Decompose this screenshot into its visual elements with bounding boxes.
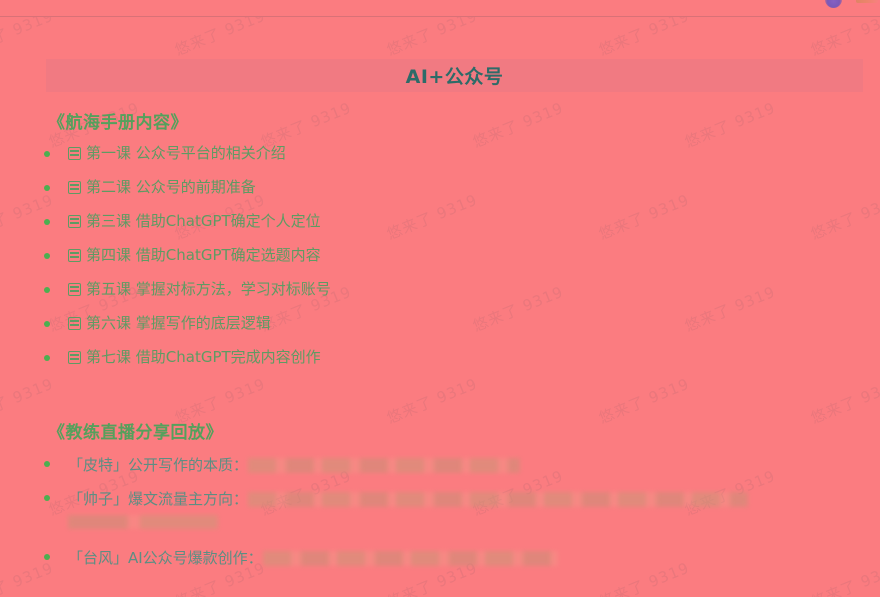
redacted-link[interactable]	[248, 458, 520, 473]
lesson-item-label: 第六课 掌握写作的底层逻辑	[86, 314, 271, 333]
bullet-icon	[44, 287, 50, 293]
bullet-icon	[44, 355, 50, 361]
page-content: AI+公众号 《航海手册内容》 《教练直播分享回放》 第一课 公众号平台的相关介…	[0, 17, 880, 597]
lesson-item[interactable]: 第一课 公众号平台的相关介绍	[44, 144, 286, 163]
replay-body: 「皮特」公开写作的本质：	[68, 454, 520, 476]
replay-body: 「台风」AI公众号爆款创作：	[68, 547, 558, 569]
lesson-item[interactable]: 第五课 掌握对标方法，学习对标账号	[44, 280, 331, 299]
title-banner: AI+公众号	[46, 59, 863, 92]
bullet-icon	[44, 554, 50, 560]
redacted-link[interactable]	[263, 551, 558, 566]
replay-item[interactable]: 「皮特」公开写作的本质：	[44, 454, 854, 476]
lesson-item[interactable]: 第六课 掌握写作的底层逻辑	[44, 314, 271, 333]
lesson-item-label: 第五课 掌握对标方法，学习对标账号	[86, 280, 331, 299]
document-list-icon	[68, 317, 81, 330]
profile-avatar-icon[interactable]	[825, 0, 842, 8]
bullet-icon	[44, 151, 50, 157]
document-list-icon	[68, 147, 81, 160]
lesson-item[interactable]: 第三课 借助ChatGPT确定个人定位	[44, 212, 321, 231]
bullet-icon	[44, 253, 50, 259]
section-heading-manual: 《航海手册内容》	[48, 108, 188, 133]
lesson-item[interactable]: 第二课 公众号的前期准备	[44, 178, 256, 197]
partial-thumbnail-icon[interactable]	[856, 0, 878, 3]
bullet-icon	[44, 219, 50, 225]
lesson-item-label: 第二课 公众号的前期准备	[86, 178, 256, 197]
document-list-icon	[68, 181, 81, 194]
replay-body: 「帅子」爆文流量主方向：	[68, 488, 748, 510]
bullet-icon	[44, 185, 50, 191]
top-bar	[0, 0, 880, 17]
section-heading-replays: 《教练直播分享回放》	[48, 418, 223, 443]
lesson-item-label: 第一课 公众号平台的相关介绍	[86, 144, 286, 163]
replay-item[interactable]: 「台风」AI公众号爆款创作：	[44, 547, 854, 569]
document-list-icon	[68, 215, 81, 228]
document-list-icon	[68, 351, 81, 364]
document-list-icon	[68, 249, 81, 262]
redacted-link[interactable]	[248, 492, 748, 507]
bullet-icon	[44, 461, 50, 467]
lesson-item[interactable]: 第七课 借助ChatGPT完成内容创作	[44, 348, 321, 367]
lesson-item-label: 第七课 借助ChatGPT完成内容创作	[86, 348, 321, 367]
bullet-icon	[44, 321, 50, 327]
lesson-item-label: 第四课 借助ChatGPT确定选题内容	[86, 246, 321, 265]
replay-item-label: 「皮特」公开写作的本质：	[68, 454, 248, 476]
replay-item[interactable]: 「帅子」爆文流量主方向：	[44, 488, 854, 510]
document-list-icon	[68, 283, 81, 296]
lesson-item[interactable]: 第四课 借助ChatGPT确定选题内容	[44, 246, 321, 265]
bullet-icon	[44, 495, 50, 501]
redacted-link-wrap[interactable]	[68, 515, 218, 529]
replay-item-label: 「台风」AI公众号爆款创作：	[68, 547, 263, 569]
page-title: AI+公众号	[406, 62, 504, 89]
lesson-item-label: 第三课 借助ChatGPT确定个人定位	[86, 212, 321, 231]
replay-item-label: 「帅子」爆文流量主方向：	[68, 488, 248, 510]
